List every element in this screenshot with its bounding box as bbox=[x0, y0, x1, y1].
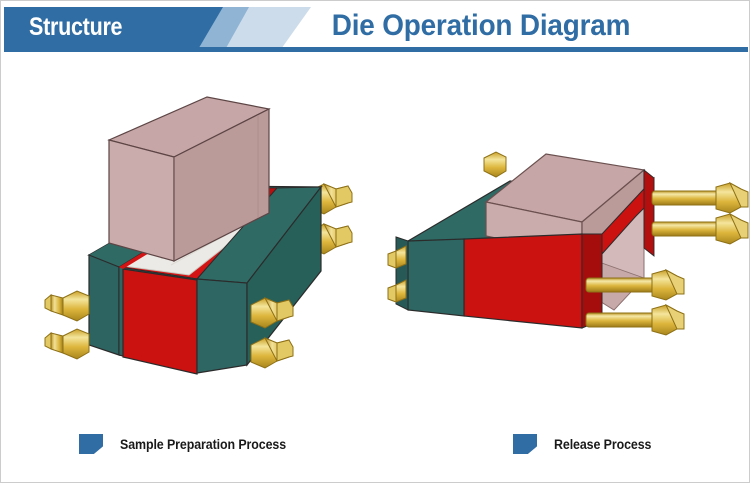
legend-swatch-icon bbox=[513, 434, 537, 454]
header-rule bbox=[4, 47, 748, 52]
legend-label: Release Process bbox=[554, 437, 651, 452]
diagram-stage bbox=[1, 53, 750, 423]
die-front-left-teal bbox=[408, 239, 464, 316]
sample-preparation-figure bbox=[11, 83, 361, 403]
die-left-side-face bbox=[89, 255, 119, 355]
release-svg bbox=[386, 138, 750, 388]
page-header: Structure Die Operation Diagram bbox=[1, 1, 750, 53]
legend-item-release: Release Process bbox=[513, 433, 660, 455]
bolt-head-left-upper bbox=[45, 291, 89, 321]
bolt-head-right-lower bbox=[251, 338, 293, 368]
extended-bolt-rod-1 bbox=[652, 183, 748, 213]
die-operation-diagram-page: Structure Die Operation Diagram bbox=[0, 0, 750, 483]
release-figure bbox=[386, 138, 750, 388]
sample-preparation-svg bbox=[11, 83, 361, 403]
extended-bolt-rod-2 bbox=[652, 214, 748, 244]
legend: Sample Preparation Process Release Proce… bbox=[1, 425, 750, 465]
legend-label: Sample Preparation Process bbox=[120, 437, 286, 452]
page-title: Die Operation Diagram bbox=[295, 5, 667, 47]
bolt-head-right-upper bbox=[251, 298, 293, 328]
legend-swatch-icon bbox=[79, 434, 103, 454]
die-front-right-teal bbox=[197, 279, 247, 373]
bolt-head-rear-top bbox=[484, 152, 506, 177]
header-tag-label: Structure bbox=[29, 10, 149, 44]
bolt-head-left-lower bbox=[45, 329, 89, 359]
die-front-red-block bbox=[123, 269, 197, 374]
legend-item-sample-preparation: Sample Preparation Process bbox=[79, 433, 300, 455]
